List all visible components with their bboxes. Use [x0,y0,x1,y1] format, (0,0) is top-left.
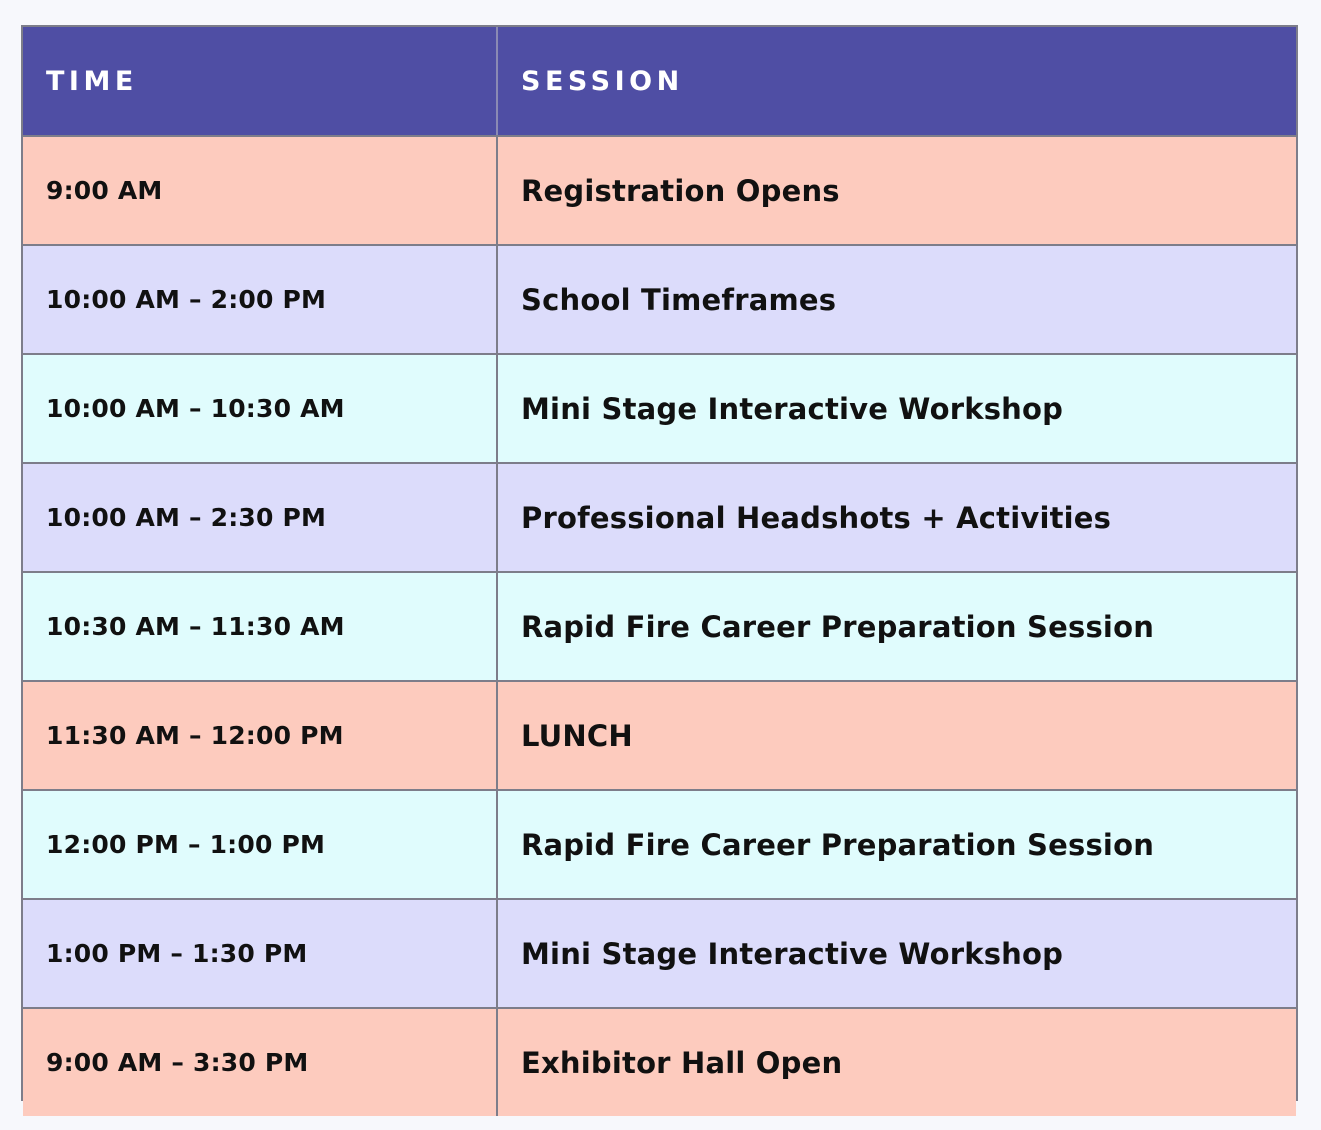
table-row[interactable]: 12:00 PM – 1:00 PMRapid Fire Career Prep… [23,790,1296,899]
table-row[interactable]: 10:00 AM – 2:30 PMProfessional Headshots… [23,463,1296,572]
cell-session: Registration Opens [497,136,1296,245]
table-row[interactable]: 1:00 PM – 1:30 PMMini Stage Interactive … [23,899,1296,1008]
cell-time: 9:00 AM – 3:30 PM [23,1008,497,1116]
schedule-table-container: TIME SESSION 9:00 AMRegistration Opens10… [21,25,1298,1101]
cell-time: 10:00 AM – 2:00 PM [23,245,497,354]
table-row[interactable]: 10:00 AM – 2:00 PMSchool Timeframes [23,245,1296,354]
cell-time: 10:00 AM – 2:30 PM [23,463,497,572]
cell-session: Exhibitor Hall Open [497,1008,1296,1116]
cell-time: 9:00 AM [23,136,497,245]
table-row[interactable]: 10:30 AM – 11:30 AMRapid Fire Career Pre… [23,572,1296,681]
table-head: TIME SESSION [23,27,1296,136]
cell-time: 10:30 AM – 11:30 AM [23,572,497,681]
table-body: 9:00 AMRegistration Opens10:00 AM – 2:00… [23,136,1296,1116]
column-header-session[interactable]: SESSION [497,27,1296,136]
table-row[interactable]: 10:00 AM – 10:30 AMMini Stage Interactiv… [23,354,1296,463]
cell-session: Mini Stage Interactive Workshop [497,354,1296,463]
cell-session: Rapid Fire Career Preparation Session [497,572,1296,681]
column-header-time[interactable]: TIME [23,27,497,136]
table-row[interactable]: 11:30 AM – 12:00 PMLUNCH [23,681,1296,790]
cell-session: LUNCH [497,681,1296,790]
cell-time: 11:30 AM – 12:00 PM [23,681,497,790]
cell-time: 10:00 AM – 10:30 AM [23,354,497,463]
cell-time: 1:00 PM – 1:30 PM [23,899,497,1008]
cell-session: School Timeframes [497,245,1296,354]
table-row[interactable]: 9:00 AM – 3:30 PMExhibitor Hall Open [23,1008,1296,1116]
schedule-table: TIME SESSION 9:00 AMRegistration Opens10… [23,27,1296,1116]
cell-session: Mini Stage Interactive Workshop [497,899,1296,1008]
cell-session: Professional Headshots + Activities [497,463,1296,572]
cell-session: Rapid Fire Career Preparation Session [497,790,1296,899]
table-row[interactable]: 9:00 AMRegistration Opens [23,136,1296,245]
table-header-row: TIME SESSION [23,27,1296,136]
cell-time: 12:00 PM – 1:00 PM [23,790,497,899]
